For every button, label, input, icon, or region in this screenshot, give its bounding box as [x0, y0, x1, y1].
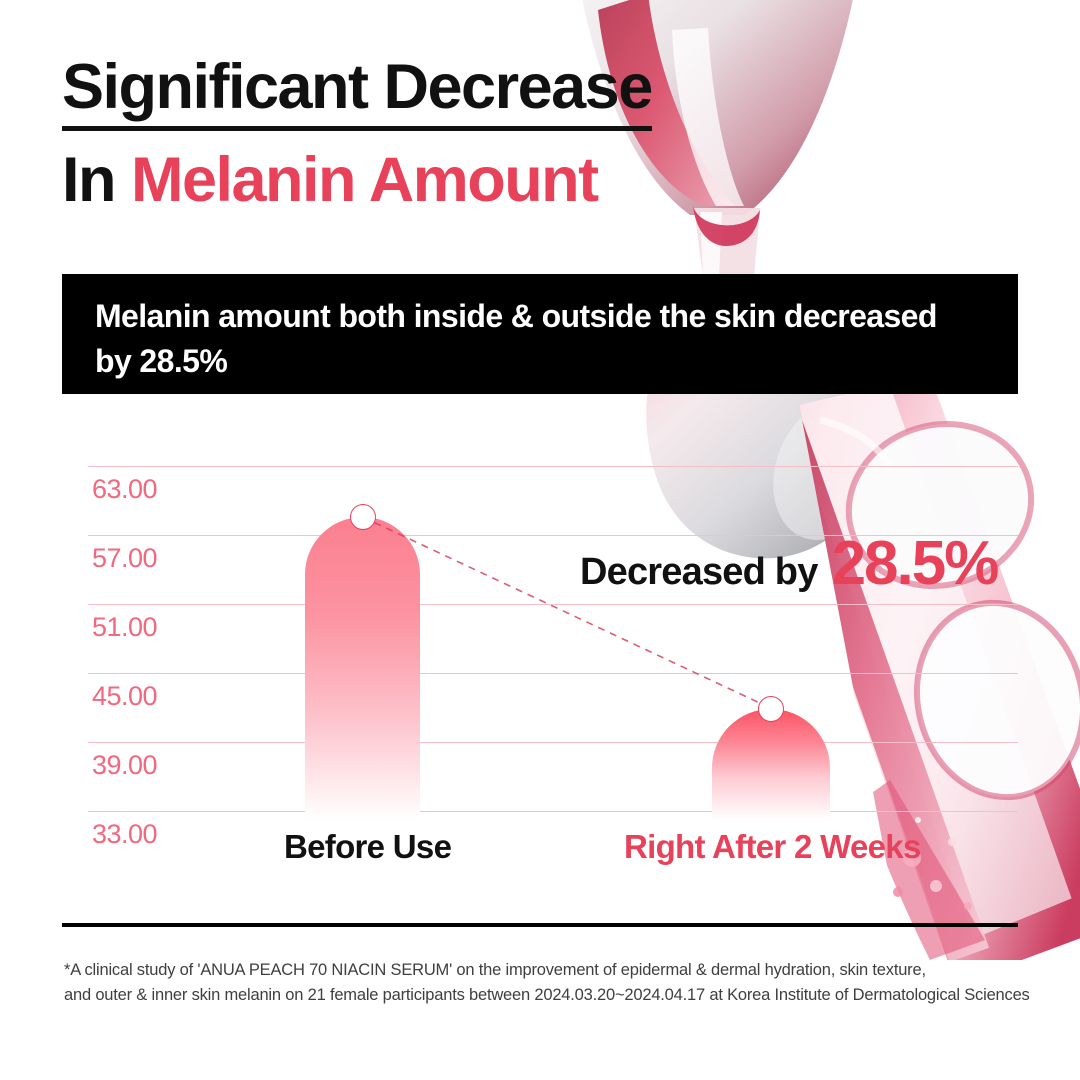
headline-line-2-prefix: In [62, 145, 131, 215]
decrease-callout-label: Decreased by [580, 551, 818, 594]
headline-line-2-accent: Melanin Amount [131, 145, 598, 215]
infographic-canvas: Significant Decrease In Melanin Amount M… [0, 0, 1080, 1080]
headline-line-2: In Melanin Amount [62, 145, 762, 215]
xlabel-right-after-strong: 2 Weeks [794, 828, 921, 865]
xlabel-before-use: Before Use [284, 828, 451, 866]
data-point-marker-after [758, 696, 784, 722]
summary-banner: Melanin amount both inside & outside the… [62, 274, 1018, 394]
headline-block: Significant Decrease In Melanin Amount [62, 52, 762, 215]
xlabel-right-after: Right After 2 Weeks [624, 828, 921, 866]
decrease-callout: Decreased by 28.5% [580, 528, 997, 599]
footer-divider [62, 923, 1018, 927]
melanin-chart: 63.00 57.00 51.00 45.00 39.00 33.00 Decr… [62, 430, 1018, 900]
chart-bars: Decreased by 28.5% [62, 430, 1018, 820]
study-footnote-line-2: and outer & inner skin melanin on 21 fem… [64, 983, 1034, 1008]
study-footnote: *A clinical study of 'ANUA PEACH 70 NIAC… [64, 958, 1034, 1008]
trend-connector [62, 430, 1018, 820]
xlabel-right-after-prefix: Right After [624, 828, 794, 865]
study-footnote-line-1: *A clinical study of 'ANUA PEACH 70 NIAC… [64, 958, 1034, 983]
headline-line-1: Significant Decrease [62, 52, 652, 131]
data-point-marker-before [350, 504, 376, 530]
chart-x-labels: Before Use Right After 2 Weeks [62, 828, 1018, 878]
decrease-callout-value: 28.5% [832, 528, 998, 599]
summary-banner-text: Melanin amount both inside & outside the… [95, 294, 975, 384]
